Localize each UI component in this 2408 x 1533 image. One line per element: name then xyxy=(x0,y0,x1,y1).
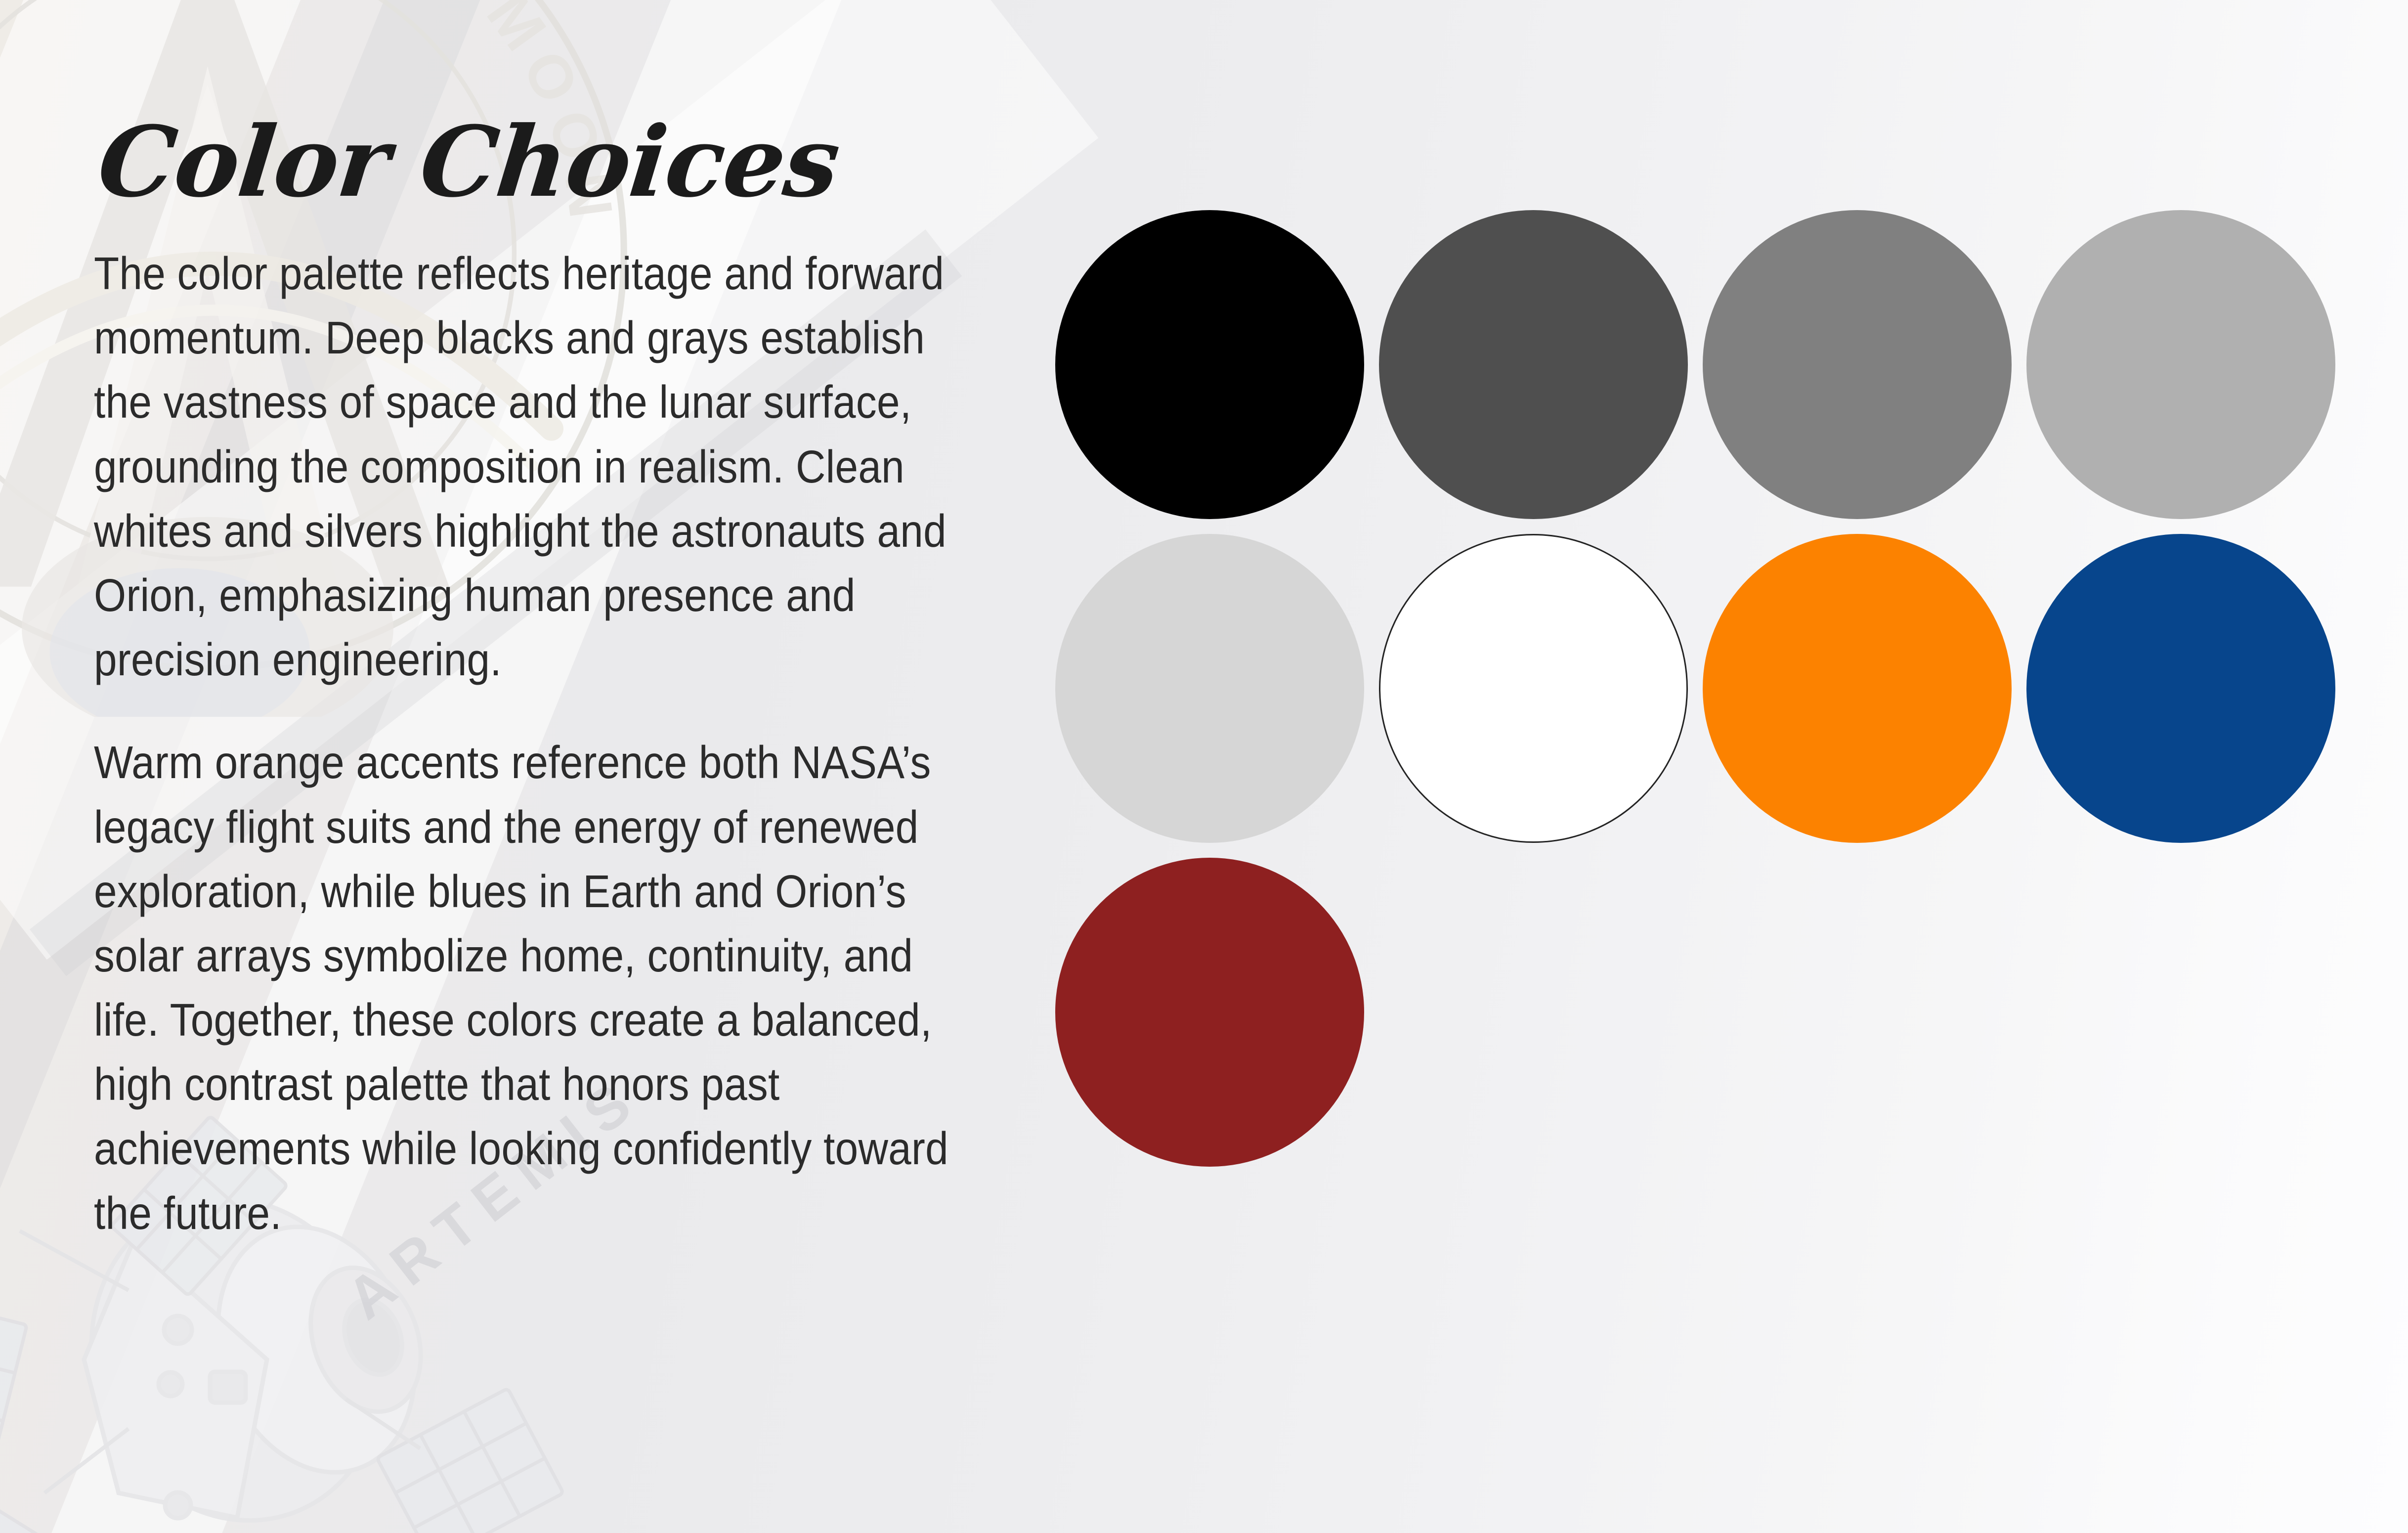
color-swatch-brick-red[interactable] xyxy=(1055,858,1364,1167)
page-title: Color Choices xyxy=(94,114,974,211)
color-swatch-silver[interactable] xyxy=(1055,534,1364,843)
color-swatch-deep-blue[interactable] xyxy=(2026,534,2335,843)
palette-row-3 xyxy=(1055,858,2333,1167)
color-swatch-charcoal-gray[interactable] xyxy=(1379,210,1688,519)
body-paragraph-1: The color palette reflects heritage and … xyxy=(94,241,963,692)
slide-canvas: ER, BACK TO THE MOON xyxy=(0,0,2408,1533)
color-swatch-white[interactable] xyxy=(1379,534,1688,843)
palette-row-2 xyxy=(1055,534,2333,843)
color-swatch-medium-gray[interactable] xyxy=(1703,210,2012,519)
color-swatch-deep-black[interactable] xyxy=(1055,210,1364,519)
body-paragraph-2: Warm orange accents reference both NASA’… xyxy=(94,730,963,1245)
color-swatch-light-gray[interactable] xyxy=(2026,210,2335,519)
color-swatch-mission-orange[interactable] xyxy=(1703,534,2012,843)
color-palette-grid xyxy=(1055,210,2333,1182)
text-column: Color Choices The color palette reflects… xyxy=(94,114,964,1245)
palette-row-1 xyxy=(1055,210,2333,519)
